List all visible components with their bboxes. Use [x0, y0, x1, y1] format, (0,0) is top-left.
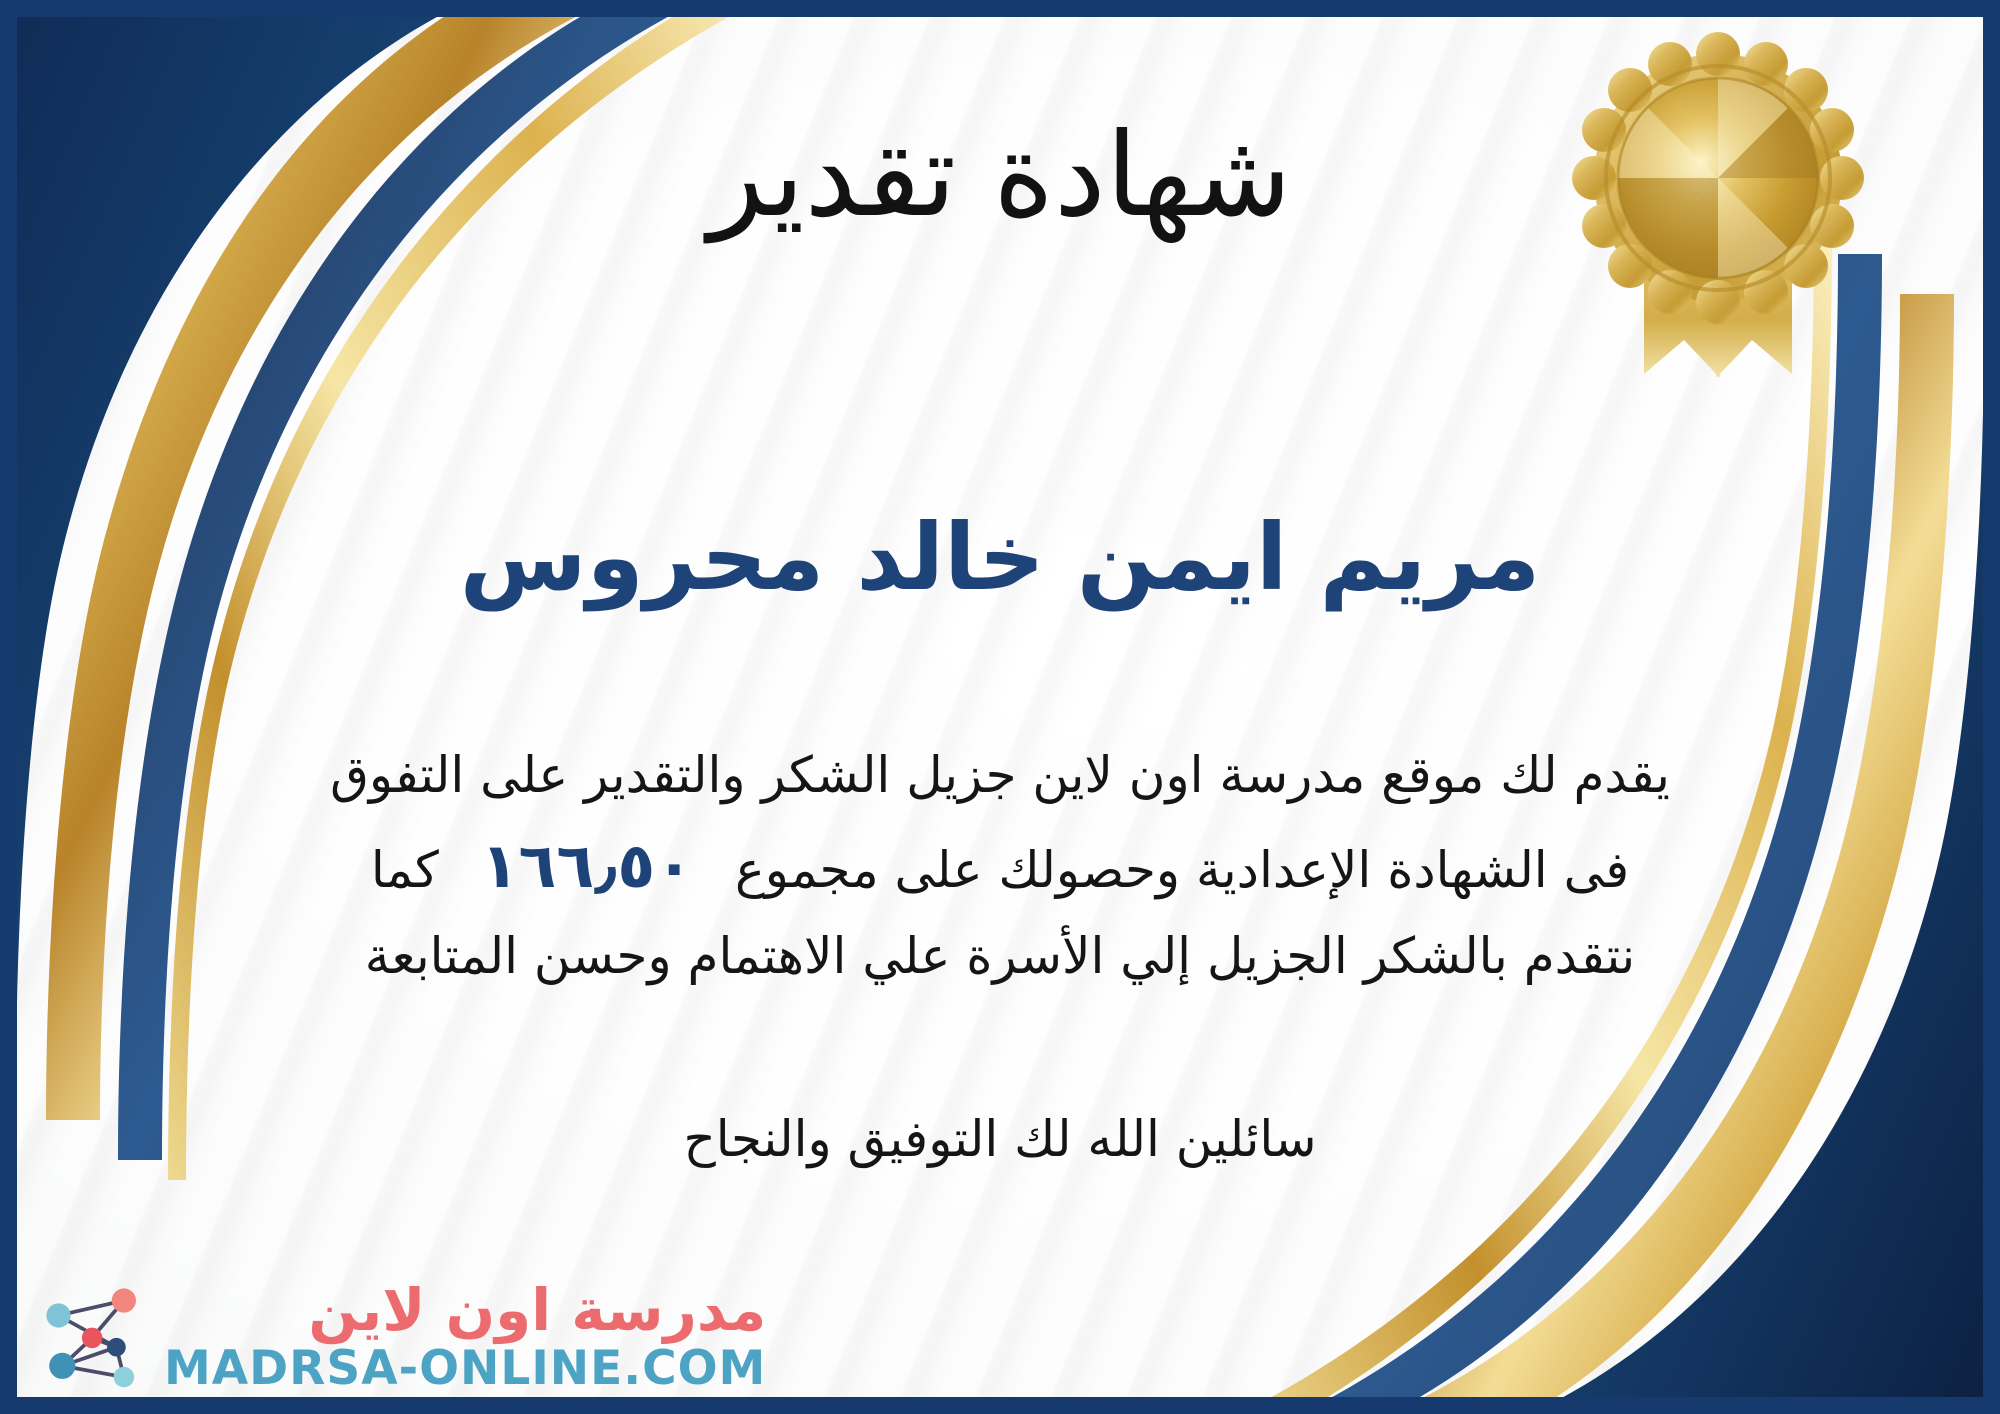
- body-line-1: يقدم لك موقع مدرسة اون لاين جزيل الشكر و…: [60, 735, 1940, 816]
- total-score-value: ١٦٦٫٥٠: [455, 829, 719, 902]
- certificate-page: شهادة تقدير مريم ايمن خالد محروس يقدم لك…: [0, 0, 2000, 1414]
- body-line-2: فى الشهادة الإعدادية وحصولك على مجموع ١٦…: [60, 816, 1940, 916]
- certificate-body: يقدم لك موقع مدرسة اون لاين جزيل الشكر و…: [60, 735, 1940, 997]
- body-line-3: نتقدم بالشكر الجزيل إلي الأسرة علي الاهت…: [60, 916, 1940, 997]
- logo-arabic-name: مدرسة اون لاين: [308, 1281, 766, 1339]
- certificate-title: شهادة تقدير: [0, 108, 2000, 245]
- logo-text-block: مدرسة اون لاين MADRSA-ONLINE.COM: [164, 1281, 766, 1392]
- student-name: مريم ايمن خالد محروس: [0, 500, 2000, 615]
- body-line-2-after: كما: [371, 841, 439, 899]
- closing-line: سائلين الله لك التوفيق والنجاح: [0, 1110, 2000, 1168]
- body-line-2-before: فى الشهادة الإعدادية وحصولك على مجموع: [735, 841, 1629, 899]
- site-logo[interactable]: مدرسة اون لاين MADRSA-ONLINE.COM: [38, 1280, 766, 1392]
- network-nodes-icon: [38, 1280, 150, 1392]
- logo-domain: MADRSA-ONLINE.COM: [164, 1345, 766, 1392]
